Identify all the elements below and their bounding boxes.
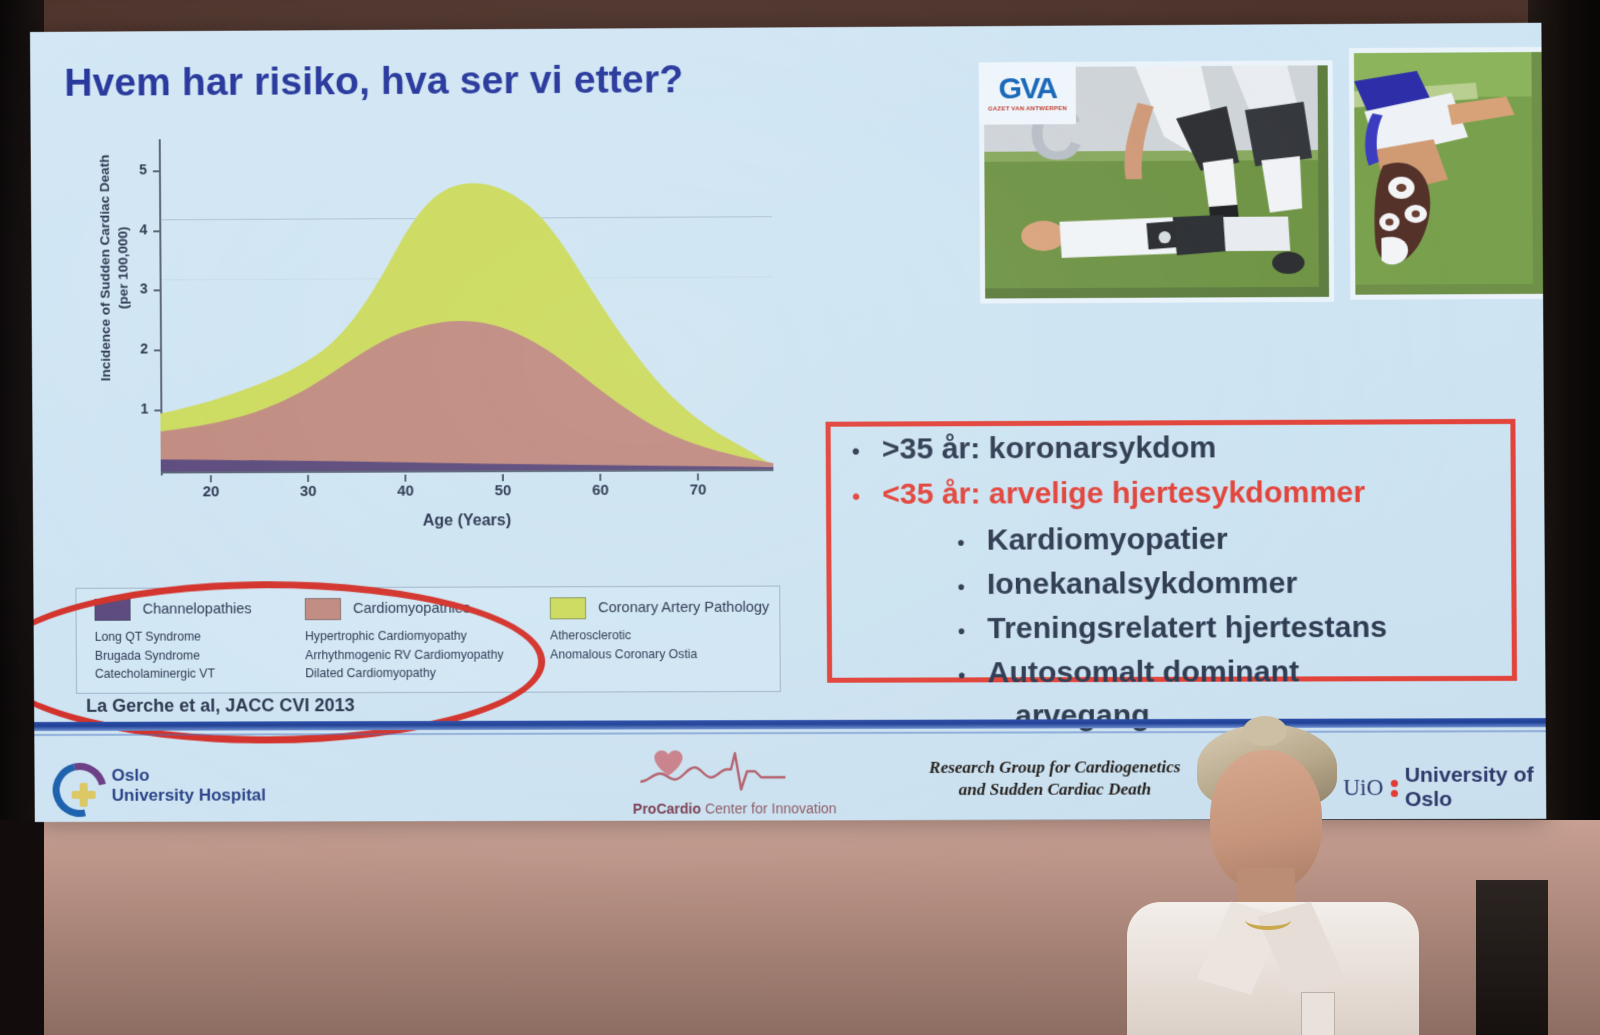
incidence-area-chart: Incidence of Sudden Cardiac Death (per 1…: [47, 128, 782, 562]
bullet-glyph: •: [958, 622, 965, 642]
legend-column-coronary: Coronary Artery Pathology Atheroscleroti…: [550, 597, 770, 664]
xtick-mark-70: [697, 473, 699, 480]
subbullet-kardiomyopatier: • Kardiomyopatier: [957, 520, 1524, 558]
legend-item: Brugada Syndrome: [95, 646, 252, 665]
bullet-glyph: •: [958, 666, 965, 686]
legend-item: Catecholaminergic VT: [95, 664, 252, 683]
bullet-over-35: • >35 år: koronarsykdom: [852, 429, 1524, 467]
chart-legend: Channelopathies Long QT Syndrome Brugada…: [75, 586, 780, 694]
procardio-logo: ProCardio Center for Innovation: [626, 747, 843, 817]
bullet-over-35-label: >35 år: koronarsykdom: [882, 430, 1217, 467]
oslo-university-hospital-logo: Oslo University Hospital: [52, 762, 266, 809]
side-monitor: [1476, 880, 1548, 1035]
procardio-wordmark: ProCardio Center for Innovation: [626, 800, 843, 817]
gva-logo-mark: GVA: [999, 74, 1057, 104]
key-points-list: • >35 år: koronarsykdom • <35 år: arveli…: [826, 429, 1526, 734]
legend-item: Hypertrophic Cardiomyopathy: [305, 627, 503, 646]
legend-item: Long QT Syndrome: [95, 627, 252, 646]
xtick-label-70: 70: [678, 481, 718, 498]
subbullet-label: Autosomalt dominant: [987, 654, 1299, 691]
ytick-label-5: 5: [117, 161, 147, 177]
chart-plot-area: [159, 138, 774, 472]
legend-item: Dilated Cardiomyopathy: [305, 664, 503, 683]
ytick-label-4: 4: [117, 221, 147, 237]
xtick-mark-40: [404, 475, 406, 482]
legend-swatch-channelopathies: [94, 599, 130, 621]
xtick-label-40: 40: [385, 483, 425, 500]
legend-label-channelopathies: Channelopathies: [143, 601, 252, 617]
legend-swatch-cardiomyopathies: [305, 598, 341, 620]
presenter-id-badge: [1301, 992, 1335, 1035]
xtick-label-60: 60: [580, 482, 620, 499]
page-title: Hvem har risiko, hva ser vi etter?: [64, 58, 683, 106]
presenter-person: [1105, 710, 1435, 1035]
legend-label-coronary-artery-pathology: Coronary Artery Pathology: [598, 600, 769, 617]
bullet-glyph: •: [852, 441, 860, 463]
gva-logo-subtitle: GAZET VAN ANTWERPEN: [988, 106, 1067, 112]
presenter-hair-bun: [1243, 716, 1287, 746]
screenshot-root: Hvem har risiko, hva ser vi etter? Incid…: [0, 0, 1600, 1035]
bullet-under-35-label: <35 år: arvelige hjertesykdommer: [882, 475, 1365, 512]
subbullet-label: Kardiomyopatier: [987, 521, 1228, 558]
legend-label-cardiomyopathies: Cardiomyopathies: [353, 601, 470, 617]
legend-item: Arrhythmogenic RV Cardiomyopathy: [305, 645, 503, 664]
chart-x-axis-label: Age (Years): [161, 511, 774, 531]
subbullet-label: Ionekanalsykdommer: [987, 566, 1297, 603]
player-on-grass-boot-photo: [1349, 47, 1546, 300]
ytick-label-2: 2: [118, 340, 148, 356]
subbullet-label: Treningsrelatert hjertestans: [987, 610, 1387, 647]
legend-column-cardiomyopathies: Cardiomyopathies Hypertrophic Cardiomyop…: [305, 597, 504, 682]
stacked-area-svg: [159, 138, 774, 474]
subbullet-treningsrelatert: • Treningsrelatert hjertestans: [958, 609, 1525, 647]
chart-citation: La Gerche et al, JACC CVI 2013: [86, 695, 355, 717]
xtick-mark-50: [502, 474, 504, 481]
xtick-mark-20: [210, 475, 212, 482]
subbullet-ionekanalsykdommer: • Ionekanalsykdommer: [958, 565, 1525, 603]
bullet-glyph: •: [958, 578, 965, 598]
ytick-label-3: 3: [118, 280, 148, 296]
xtick-label-30: 30: [288, 483, 328, 500]
xtick-mark-30: [307, 475, 309, 482]
photo-side-graphic: [1354, 52, 1533, 285]
bullet-glyph: •: [852, 486, 860, 508]
presenter-necklace: [1245, 910, 1291, 930]
xtick-label-50: 50: [483, 482, 523, 499]
xtick-label-20: 20: [191, 483, 231, 500]
bullet-glyph: •: [957, 533, 964, 553]
projected-slide: Hvem har risiko, hva ser vi etter? Incid…: [30, 23, 1546, 822]
legend-swatch-coronary-artery-pathology: [550, 597, 586, 619]
xtick-mark-60: [599, 474, 601, 481]
legend-item: Anomalous Coronary Ostia: [550, 644, 770, 663]
legend-item: Atherosclerotic: [550, 626, 770, 645]
legend-column-channelopathies: Channelopathies Long QT Syndrome Brugada…: [94, 598, 252, 683]
ytick-label-1: 1: [118, 401, 148, 417]
bullet-under-35: • <35 år: arvelige hjertesykdommer: [852, 475, 1524, 513]
oslo-hospital-wordmark: Oslo University Hospital: [112, 765, 266, 805]
subbullet-autosomalt-dominant: • Autosomalt dominant: [958, 653, 1525, 691]
oslo-hospital-icon: [52, 763, 98, 809]
wall-lower-left-dark: [0, 820, 44, 1035]
gva-newspaper-logo: GVA GAZET VAN ANTWERPEN: [979, 62, 1076, 125]
heart-ecg-icon: [634, 747, 836, 794]
